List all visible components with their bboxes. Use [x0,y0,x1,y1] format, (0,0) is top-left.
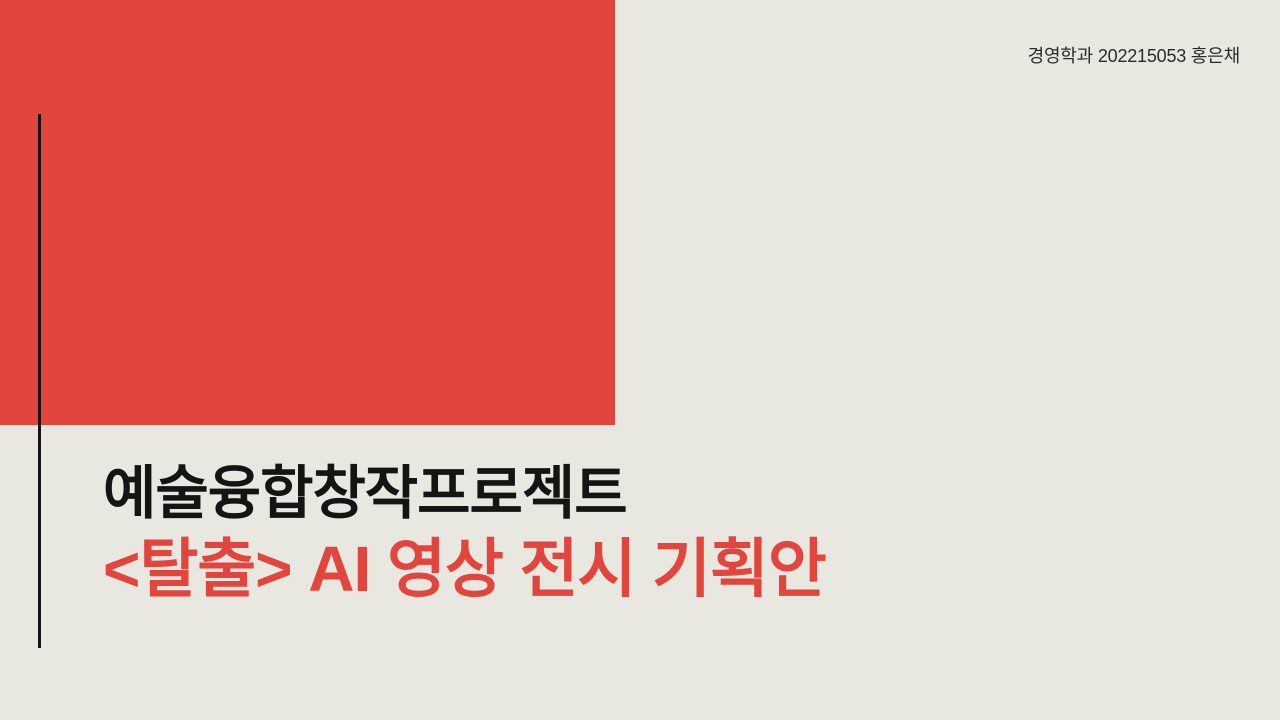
vertical-accent-rule [38,114,41,648]
author-meta-text: 경영학과 202215053 홍은채 [1028,44,1240,68]
red-accent-block [0,0,615,425]
page-title-secondary: <탈출> AI 영상 전시 기획안 [103,530,1103,608]
title-block: 예술융합창작프로젝트 <탈출> AI 영상 전시 기획안 [103,458,1103,608]
title-slide: 경영학과 202215053 홍은채 예술융합창작프로젝트 <탈출> AI 영상… [0,0,1280,720]
page-title-primary: 예술융합창작프로젝트 [103,458,1103,530]
